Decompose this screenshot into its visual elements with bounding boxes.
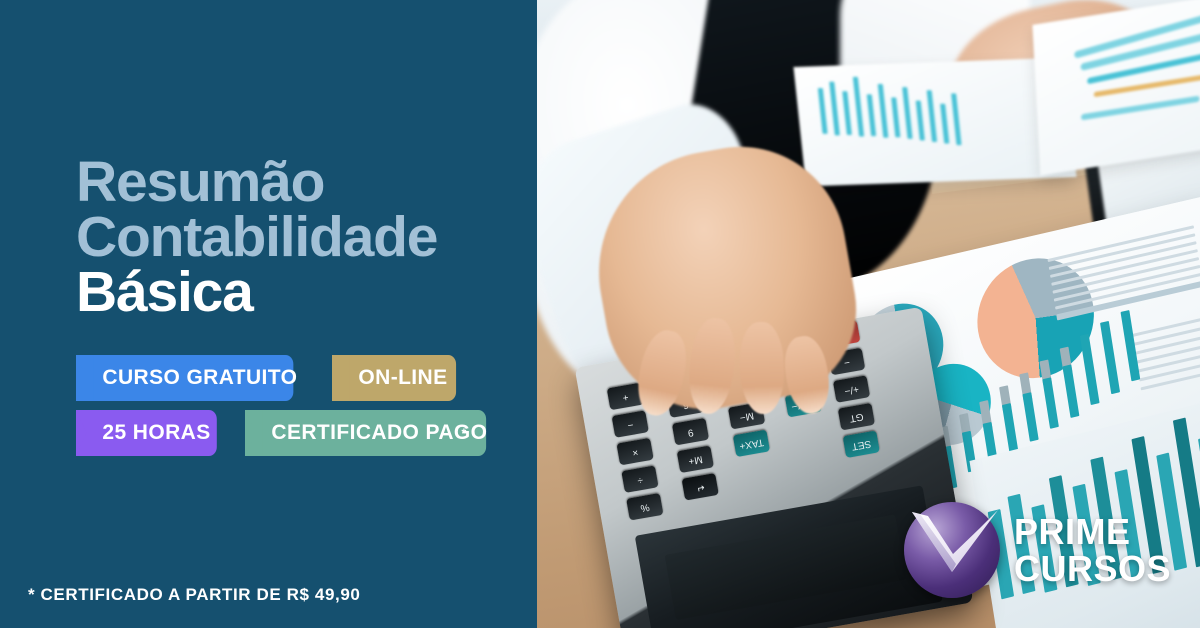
title-line-1: Resumão xyxy=(76,155,437,210)
badge-group: CURSO GRATUITO ON-LINE 25 HORAS CERTIFIC… xyxy=(76,355,519,465)
logo-line-cursos: CURSOS xyxy=(1014,550,1171,587)
badge-curso-gratuito[interactable]: CURSO GRATUITO xyxy=(76,355,293,401)
course-promo-banner: + − × ÷ % 3 6 9 M+ ↵ 5 8 M− TAX+ 7 MRC T… xyxy=(0,0,1200,628)
checkmark-swoosh-icon xyxy=(906,502,1002,598)
badge-25-horas-label: 25 HORAS xyxy=(102,421,210,445)
page-title: Resumão Contabilidade Básica xyxy=(76,155,437,320)
prime-cursos-logo-icon xyxy=(900,498,1004,602)
badge-25-horas[interactable]: 25 HORAS xyxy=(76,410,217,456)
title-line-3: Básica xyxy=(76,265,437,320)
prime-cursos-logo[interactable]: PRIME CURSOS xyxy=(900,498,1171,602)
badge-certificado-pago[interactable]: CERTIFICADO PAGO* xyxy=(245,410,486,456)
prime-cursos-logo-text: PRIME CURSOS xyxy=(1014,513,1171,587)
badge-curso-gratuito-label: CURSO GRATUITO xyxy=(102,366,297,390)
badge-on-line-label: ON-LINE xyxy=(358,366,447,390)
badge-row-1: CURSO GRATUITO ON-LINE xyxy=(76,355,519,401)
badge-certificado-pago-label: CERTIFICADO PAGO xyxy=(272,421,488,445)
title-line-2: Contabilidade xyxy=(76,210,437,265)
logo-line-prime: PRIME xyxy=(1014,513,1171,550)
certificate-price-footnote: * CERTIFICADO A PARTIR DE R$ 49,90 xyxy=(28,585,360,605)
badge-on-line[interactable]: ON-LINE xyxy=(332,355,456,401)
badge-row-2: 25 HORAS CERTIFICADO PAGO* xyxy=(76,410,519,456)
